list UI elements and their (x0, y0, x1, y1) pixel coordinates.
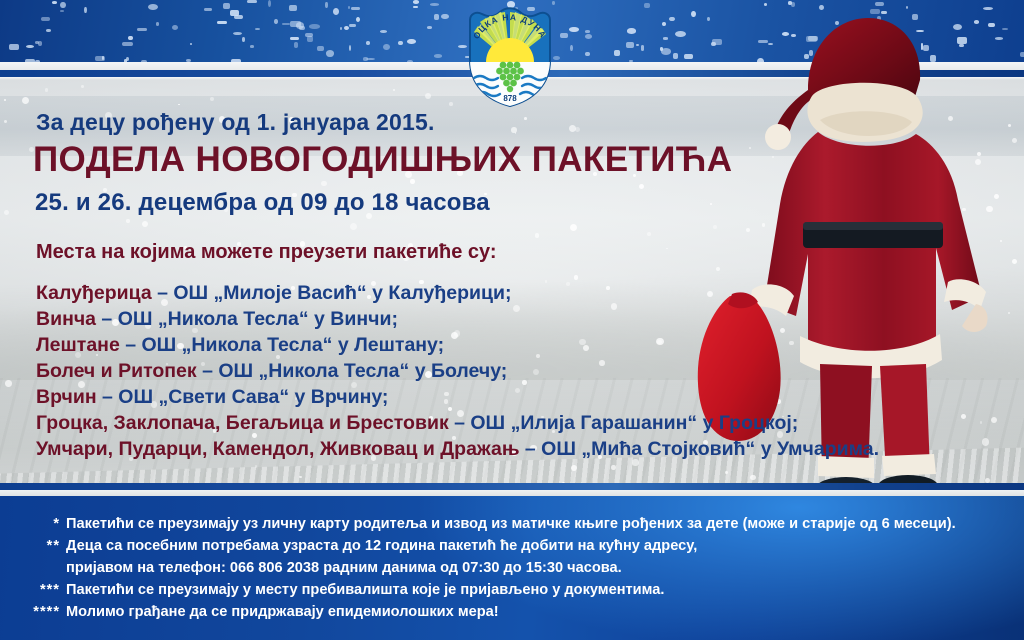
footnote-marker: *** (14, 582, 60, 598)
footnote-text: пријавом на телефон: 066 806 2038 радним… (66, 560, 622, 576)
location-place-name: Калуђерица (36, 282, 152, 304)
location-row: Врчин – ОШ „Свети Сава“ у Врчину; (36, 384, 986, 410)
poster-text-content: За децу рођену од 1. јануара 2015. ПОДЕЛ… (0, 77, 1024, 489)
location-place-name: Болеч и Ритопек (36, 360, 197, 382)
location-school: – ОШ „Милоје Васић“ у Калуђерици; (152, 282, 512, 304)
location-place-name: Винча (36, 308, 96, 330)
location-row: Гроцка, Заклопача, Бегаљица и Брестовик … (36, 410, 986, 436)
footnote-text: Молимо грађане да се придржавају епидеми… (66, 604, 499, 620)
location-place-name: Гроцка, Заклопача, Бегаљица и Брестовик (36, 412, 449, 434)
footer-blue-rule (0, 483, 1024, 490)
location-place-name: Лештане (36, 334, 120, 356)
new-year-gift-packages-poster: ГРОЦКА НА ДУНАВУ 878 (0, 0, 1024, 640)
location-row: Болеч и Ритопек – ОШ „Никола Тесла“ у Бо… (36, 358, 986, 384)
location-school: – ОШ „Никола Тесла“ у Лештану; (120, 334, 444, 356)
locations-list: Калуђерица – ОШ „Милоје Васић“ у Калуђер… (36, 280, 986, 462)
location-row: Лештане – ОШ „Никола Тесла“ у Лештану; (36, 332, 986, 358)
location-school: – ОШ „Свети Сава“ у Врчину; (97, 386, 389, 408)
footnote-text: Пакетићи се преузимају уз личну карту ро… (66, 516, 956, 532)
footnote-marker: ** (14, 538, 60, 554)
location-row: Умчари, Пударци, Камендол, Живковац и Др… (36, 436, 986, 462)
locations-subheading: Места на којима можете преузети пакетиће… (36, 241, 497, 264)
page-title: ПОДЕЛА НОВОГОДИШЊИХ ПАКЕТИЋА (33, 140, 732, 180)
location-row: Калуђерица – ОШ „Милоје Васић“ у Калуђер… (36, 280, 986, 306)
dates-text: 25. и 26. децембра од 09 до 18 часова (35, 189, 490, 217)
footnote-text: Деца са посебним потребама узраста до 12… (66, 538, 697, 554)
footnotes-band: *Пакетићи се преузимају уз личну карту р… (0, 496, 1024, 640)
footnote-marker: * (14, 516, 60, 532)
footnote-text: Пакетићи се преузимају у месту пребивали… (66, 582, 664, 598)
location-place-name: Умчари, Пударци, Камендол, Живковац и Др… (36, 438, 520, 460)
footnote-marker: **** (14, 604, 60, 620)
location-row: Винча – ОШ „Никола Тесла“ у Винчи; (36, 306, 986, 332)
location-school: – ОШ „Илија Гарашанин“ у Гроцкој; (449, 412, 799, 434)
location-school: – ОШ „Никола Тесла“ у Винчи; (96, 308, 398, 330)
eyebrow-text: За децу рођену од 1. јануара 2015. (36, 109, 435, 136)
location-place-name: Врчин (36, 386, 97, 408)
location-school: – ОШ „Мића Стојковић“ у Умчарима. (520, 438, 880, 460)
location-school: – ОШ „Никола Тесла“ у Болечу; (197, 360, 508, 382)
